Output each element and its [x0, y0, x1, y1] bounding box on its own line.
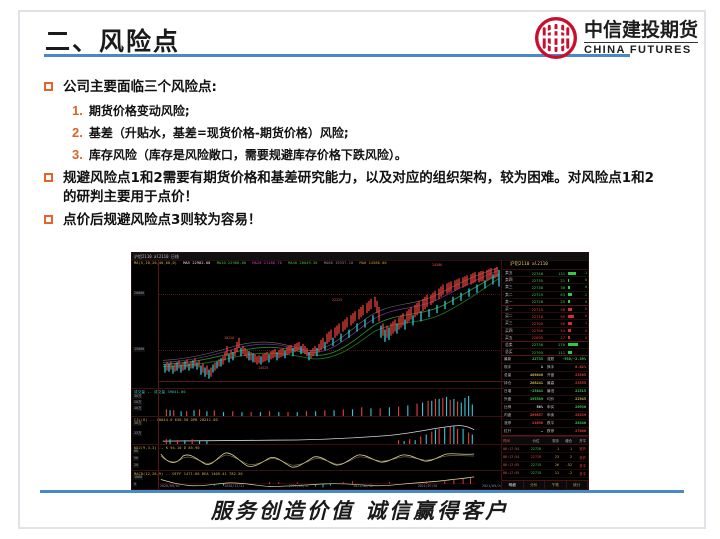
stat-row: 比例56% 申买20930: [502, 404, 588, 412]
tick-kind: 多开: [572, 455, 588, 460]
macd-pane: MACD(12,26,9) -- DIFF 1471.66 DEA 1409.4…: [132, 470, 504, 489]
ma-label-3: MA20 21186.70: [252, 261, 281, 265]
date-tick-4: 2021/07/01: [418, 484, 438, 488]
stat-value2: 23555: [575, 381, 586, 386]
ma-label-6: MA0 24586.00: [360, 261, 387, 265]
ma-label-4: MA40 20049.30: [288, 261, 317, 265]
bid-depth-bar: [568, 308, 579, 311]
bid-delta: 0: [579, 329, 587, 333]
kdj-axis-20: 20: [133, 463, 139, 468]
ask-price: 22725: [519, 292, 543, 297]
cjl-axis-lo: 13万: [133, 431, 142, 436]
stat-key2: 换手: [547, 365, 554, 370]
volume-axis-hi: 30万: [133, 394, 142, 399]
orderbook-bid-row: 买三 22705 56 -1: [502, 320, 588, 327]
stat-row: 最新22735 涨跌-550/-2.39%: [502, 356, 588, 364]
total-sell-price: 22730: [519, 342, 543, 347]
bid-qty: 54: [543, 328, 568, 333]
tick-row: 08:17:54 22728 23 2 多开: [502, 453, 588, 461]
tick-kind: 双开: [572, 446, 588, 451]
stat-value: 22735: [532, 357, 543, 362]
kdj-axis-80: 80: [133, 449, 139, 454]
brand-text: 中信建投期货 CHINA FUTURES: [584, 21, 698, 56]
candlestick-series: [159, 266, 503, 387]
stat-key2: 跌平: [547, 421, 554, 426]
stat-value: -25841: [530, 389, 543, 394]
ask-price: 22720: [519, 299, 543, 304]
stat-value2: 20339: [575, 413, 586, 418]
orderbook-total-sell-row: 总卖 22730 270: [502, 342, 588, 349]
tick-col-time: 时间: [502, 438, 526, 443]
footer-slogan: 服务创造价值 诚信赢得客户: [0, 495, 720, 525]
tick-col-price: 价位: [526, 438, 546, 443]
stat-key: 持仓: [504, 381, 511, 386]
bid-label: 买二: [503, 313, 519, 319]
ask-label: 卖四: [503, 277, 519, 283]
bullet-square-icon: [44, 173, 53, 182]
numbered-text-1: 期货价格变动风险;: [89, 103, 190, 119]
stat-row: 内盘269857 申卖20339: [502, 412, 588, 420]
tab-stats[interactable]: 统计: [567, 481, 589, 489]
numbered-marker-1: 1.: [72, 103, 83, 118]
bid-delta: -1: [579, 321, 587, 325]
stat-value: —: [541, 429, 543, 434]
stat-key: 内盘: [504, 413, 511, 418]
orderbook-total-buy-row: 总买 22705 111: [502, 349, 588, 356]
ask-qty: 63: [543, 292, 568, 297]
numbered-text-2: 基差（升贴水，基差=现货价格-期货价格）风险;: [89, 125, 349, 141]
tick-price: 22715: [526, 463, 546, 467]
stat-key: 红升: [504, 429, 511, 434]
tick-oi: -52: [559, 463, 572, 467]
tab-thousand[interactable]: 千笔: [545, 481, 567, 489]
tick-col-oi: 增仓: [559, 438, 572, 443]
tick-kind: 多平: [572, 471, 588, 476]
tick-row: 08:17:54 22728 1 1 双开: [502, 445, 588, 453]
stat-value2: -550/-2.39%: [562, 357, 586, 362]
stat-key: 涨停: [504, 421, 511, 426]
bid-label: 买四: [503, 328, 519, 334]
bid-delta: 0: [579, 314, 587, 318]
bullet-text-3: 点价后规避风险点3则较为容易！: [63, 211, 261, 230]
bid-price: 22700: [519, 328, 543, 333]
footer-rule: [40, 490, 684, 493]
ask-label: 卖三: [503, 284, 519, 290]
volume-bars-svg: [159, 395, 476, 416]
ask-delta: -1: [579, 271, 587, 275]
ask-delta: 0: [579, 278, 587, 282]
bullet-item-2: 规避风险点1和2需要有期货价格和基差研究能力，以及对应的组织架构，较为困难。对风…: [44, 169, 684, 207]
bid-qty: 58: [543, 307, 568, 312]
candlestick-svg: [159, 266, 503, 387]
bullet-text-1: 公司主要面临三个风险点:: [63, 78, 217, 97]
ask-label: 卖五: [503, 270, 519, 276]
date-tick-2: 2021/03/31: [289, 484, 309, 488]
stat-value2: 20340: [575, 421, 586, 426]
tick-vol: 1: [546, 447, 559, 451]
stat-row: 日增-25841 最低22515: [502, 388, 588, 396]
bid-price: 22710: [519, 314, 543, 319]
stat-key: 外盘: [504, 397, 511, 402]
stat-key2: 跌停: [547, 429, 554, 434]
orderbook-bid-row: 买五 22695 27 0: [502, 335, 588, 342]
orderbook-ask-row: 卖四 22735 21 0: [502, 277, 588, 284]
stat-key2: 最高: [547, 381, 554, 386]
stat-key2: 涨跌: [547, 357, 554, 362]
tick-table-header: 时间 价位 现手 增仓 开平: [502, 436, 588, 445]
tick-oi: 1: [559, 447, 572, 451]
tick-time: 08:17:54: [502, 447, 526, 451]
numbered-item-2: 2. 基差（升贴水，基差=现货价格-期货价格）风险;: [72, 125, 684, 141]
stat-key2: 申卖: [547, 413, 554, 418]
stat-key: 比例: [504, 405, 511, 410]
frame-border-bottom: [18, 527, 706, 529]
stat-row: 涨停24690 跌平20340: [502, 420, 588, 428]
ask-depth-bar: [568, 272, 579, 275]
price-tag-1: 22225: [332, 298, 342, 302]
ask-qty: 30: [543, 285, 568, 290]
quote-panel: 沪铝2110 al2110 卖五 22740 131 -1 卖四 22735 2…: [501, 260, 588, 489]
stat-value2: 22945: [575, 397, 586, 402]
stat-key: 总量: [504, 373, 511, 378]
bid-label: 买一: [503, 306, 519, 312]
citic-logo-icon: [535, 17, 577, 59]
ask-qty: 25: [543, 299, 568, 304]
tick-oi: 2: [559, 455, 572, 459]
tick-oi: -2: [559, 471, 572, 475]
total-buy-bar: [568, 351, 579, 354]
price-tag-0: 24586: [432, 263, 442, 267]
brand-divider: [584, 42, 698, 43]
tick-vol: 11: [546, 471, 559, 475]
stat-row: 现手1 换手0.62%: [502, 364, 588, 372]
price-pane: MA(5,10,20,40,60,0) MA5 22982.00 MA10 22…: [132, 260, 504, 388]
content-body: 公司主要面临三个风险点: 1. 期货价格变动风险; 2. 基差（升贴水，基差=现…: [44, 78, 684, 232]
cjl-pane: CJL(0) -- 48044.0 636.50 OPB 28241.00 30…: [132, 416, 504, 445]
bid-depth-bar: [568, 315, 579, 318]
total-sell-label: 总卖: [503, 342, 519, 348]
brand-name-en: CHINA FUTURES: [584, 45, 698, 56]
instrument-title: 沪铝2110 al2110: [502, 260, 588, 270]
ask-price: 22740: [519, 271, 543, 276]
bid-qty: 95: [543, 314, 568, 319]
tick-price: 22728: [526, 447, 546, 451]
bid-qty: 27: [543, 335, 568, 340]
stat-row: 总量406646 开盘23565: [502, 372, 588, 380]
trading-terminal-screenshot: 沪铝2110 al2110 日线 MA(5,10,20,40,60,0) MA5…: [131, 252, 589, 490]
stat-value2: 23565: [575, 373, 586, 378]
ask-depth-bar: [568, 293, 579, 296]
tick-price: 22715: [526, 471, 546, 475]
stat-row: 红升— 跌停27000: [502, 428, 588, 436]
ask-price: 22730: [519, 285, 543, 290]
ask-label: 卖二: [503, 292, 519, 298]
bullet-item-3: 点价后规避风险点3则较为容易！: [44, 211, 684, 230]
tick-col-vol: 现手: [546, 438, 559, 443]
frame-border-top: [18, 10, 706, 12]
bullet-item-1: 公司主要面临三个风险点:: [44, 78, 684, 97]
ask-depth-bar: [568, 286, 579, 289]
orderbook-ask-row: 卖二 22725 63 -2: [502, 292, 588, 299]
stat-row: 外盘195589 均价22945: [502, 396, 588, 404]
stat-value2: 22515: [575, 389, 586, 394]
tick-row: 08:17:55 22715 11 -2 多平: [502, 470, 588, 478]
kdj-pane: KDJ(9,3,3) -- K 94.10 D 85.90 80 50 20: [132, 444, 504, 471]
date-axis: 2020/09/01 2020/12/31 2021/03/31 2021/06…: [158, 482, 504, 489]
stat-value2: 20930: [575, 405, 586, 410]
stat-key2: 最低: [547, 389, 554, 394]
ask-qty: 21: [543, 278, 568, 283]
stat-value: 406646: [530, 373, 543, 378]
volume-axis-mid: 20万: [133, 400, 142, 405]
cjl-axis-hi: 30万: [133, 421, 142, 426]
brand-name-cn: 中信建投期货: [584, 21, 698, 40]
bid-qty: 56: [543, 321, 568, 326]
bid-label: 买三: [503, 320, 519, 326]
stat-value: 1: [541, 365, 543, 370]
orderbook-ask-row: 卖一 22720 25 0: [502, 299, 588, 306]
numbered-item-1: 1. 期货价格变动风险;: [72, 103, 684, 119]
numbered-marker-3: 3.: [72, 147, 83, 162]
stat-key: 现手: [504, 365, 511, 370]
volume-pane: 成交量 -- 成交量 39841.00 30万 20万 10万: [132, 388, 504, 417]
orderbook-ask-row: 卖五 22740 131 -1: [502, 270, 588, 277]
ma-label-2: MA10 22966.00: [217, 261, 246, 265]
volume-axis-lo: 10万: [133, 406, 142, 411]
page-title: 二、风险点: [45, 22, 180, 58]
ma-label-0: MA(5,10,20,40,60,0): [134, 261, 177, 265]
bid-depth-bar: [568, 322, 579, 325]
chart-area: MA(5,10,20,40,60,0) MA5 22982.00 MA10 22…: [132, 260, 504, 489]
ma-label-1: MA5 22982.00: [183, 261, 210, 265]
stat-key2: 均价: [547, 397, 554, 402]
tick-vol: 26: [546, 463, 559, 467]
quote-panel-tabs[interactable]: 明细 分价 千笔 统计: [502, 480, 588, 489]
total-buy-price: 22705: [519, 350, 543, 355]
bid-price: 22705: [519, 321, 543, 326]
stat-value2: 0.62%: [575, 365, 586, 370]
frame-border-left: [18, 10, 20, 529]
total-buy-qty: 111: [543, 350, 568, 355]
tick-time: 08:17:55: [502, 463, 526, 467]
tick-price: 22728: [526, 455, 546, 459]
total-buy-label: 总买: [503, 349, 519, 355]
orderbook-ask-row: 卖三 22730 30 0: [502, 284, 588, 291]
slide-root: 二、风险点 中信建投期货 CHINA FUTURES 公司主要面临三个风险点: …: [0, 0, 720, 539]
price-axis-label-low: 15000: [133, 347, 145, 352]
stat-key: 日增: [504, 389, 511, 394]
macd-axis-hi: 1000: [133, 475, 143, 480]
ma-label-5: MA60 19337.10: [324, 261, 353, 265]
tick-time: 08:17:55: [502, 471, 526, 475]
numbered-text-3: 库存风险（库存是风险敞口，需要规避库存价格下跌风险）。: [89, 147, 407, 163]
kdj-axis-50: 50: [133, 456, 139, 461]
ask-delta: 0: [579, 285, 587, 289]
stat-value: 56%: [537, 405, 544, 410]
tick-col-kind: 开平: [572, 438, 588, 443]
frame-border-right: [704, 10, 706, 529]
bid-price: 22715: [519, 307, 543, 312]
price-axis-label-high: 20000: [133, 291, 145, 296]
bid-price: 22695: [519, 335, 543, 340]
bullet-square-icon: [44, 215, 53, 224]
terminal-window-title: 沪铝2110 al2110 日线: [134, 253, 179, 260]
stat-value2: 27000: [575, 429, 586, 434]
tab-by-price[interactable]: 分价: [524, 481, 546, 489]
bid-delta: 0: [579, 307, 587, 311]
kdj-lines-svg: [159, 450, 476, 470]
stat-key2: 申买: [547, 405, 554, 410]
bid-depth-bar: [568, 336, 579, 339]
stat-key2: 开盘: [547, 373, 554, 378]
orderbook-bid-row: 买一 22715 58 0: [502, 306, 588, 313]
stat-value: 24690: [532, 421, 543, 426]
total-sell-qty: 270: [543, 342, 568, 347]
date-tick-0: 2020/09/01: [160, 484, 180, 488]
tick-kind: 多平: [572, 463, 588, 468]
ask-qty: 131: [543, 271, 568, 276]
cjl-series-svg: [159, 423, 476, 444]
orderbook-bid-row: 买四 22700 54 0: [502, 328, 588, 335]
brand-logo: 中信建投期货 CHINA FUTURES: [535, 17, 698, 59]
price-tag-2: 18220: [224, 336, 234, 340]
ask-depth-bar: [568, 279, 579, 282]
bid-label: 买五: [503, 335, 519, 341]
bid-depth-bar: [568, 329, 579, 332]
ask-label: 卖一: [503, 299, 519, 305]
tick-row: 08:17:55 22715 26 -52 多平: [502, 462, 588, 470]
ask-price: 22735: [519, 278, 543, 283]
ask-depth-bar: [568, 300, 579, 303]
bullet-square-icon: [44, 82, 53, 91]
tick-vol: 23: [546, 455, 559, 459]
price-tag-3: 14525: [258, 366, 268, 370]
ask-delta: 0: [579, 300, 587, 304]
stat-key: 最新: [504, 357, 511, 362]
macd-axis-zero: 0: [133, 482, 137, 487]
tick-time: 08:17:54: [502, 455, 526, 459]
tab-detail[interactable]: 明细: [502, 481, 524, 489]
stat-row: 持仓208241 最高23555: [502, 380, 588, 388]
date-tick-1: 2020/12/31: [224, 484, 244, 488]
orderbook-bid-row: 买二 22710 95 0: [502, 313, 588, 320]
date-tick-3: 2021/06/30: [353, 484, 373, 488]
numbered-marker-2: 2.: [72, 125, 83, 140]
ask-delta: -2: [579, 293, 587, 297]
stat-value: 269857: [530, 413, 543, 418]
numbered-item-3: 3. 库存风险（库存是风险敞口，需要规避库存价格下跌风险）。: [72, 147, 684, 163]
stat-value: 195589: [530, 397, 543, 402]
bid-delta: 0: [579, 336, 587, 340]
stat-value: 208241: [530, 381, 543, 386]
date-tick-5: 2021/09/24: [482, 484, 502, 488]
total-sell-bar: [568, 343, 579, 346]
bullet-text-2: 规避风险点1和2需要有期货价格和基差研究能力，以及对应的组织架构，较为困难。对风…: [63, 169, 663, 207]
